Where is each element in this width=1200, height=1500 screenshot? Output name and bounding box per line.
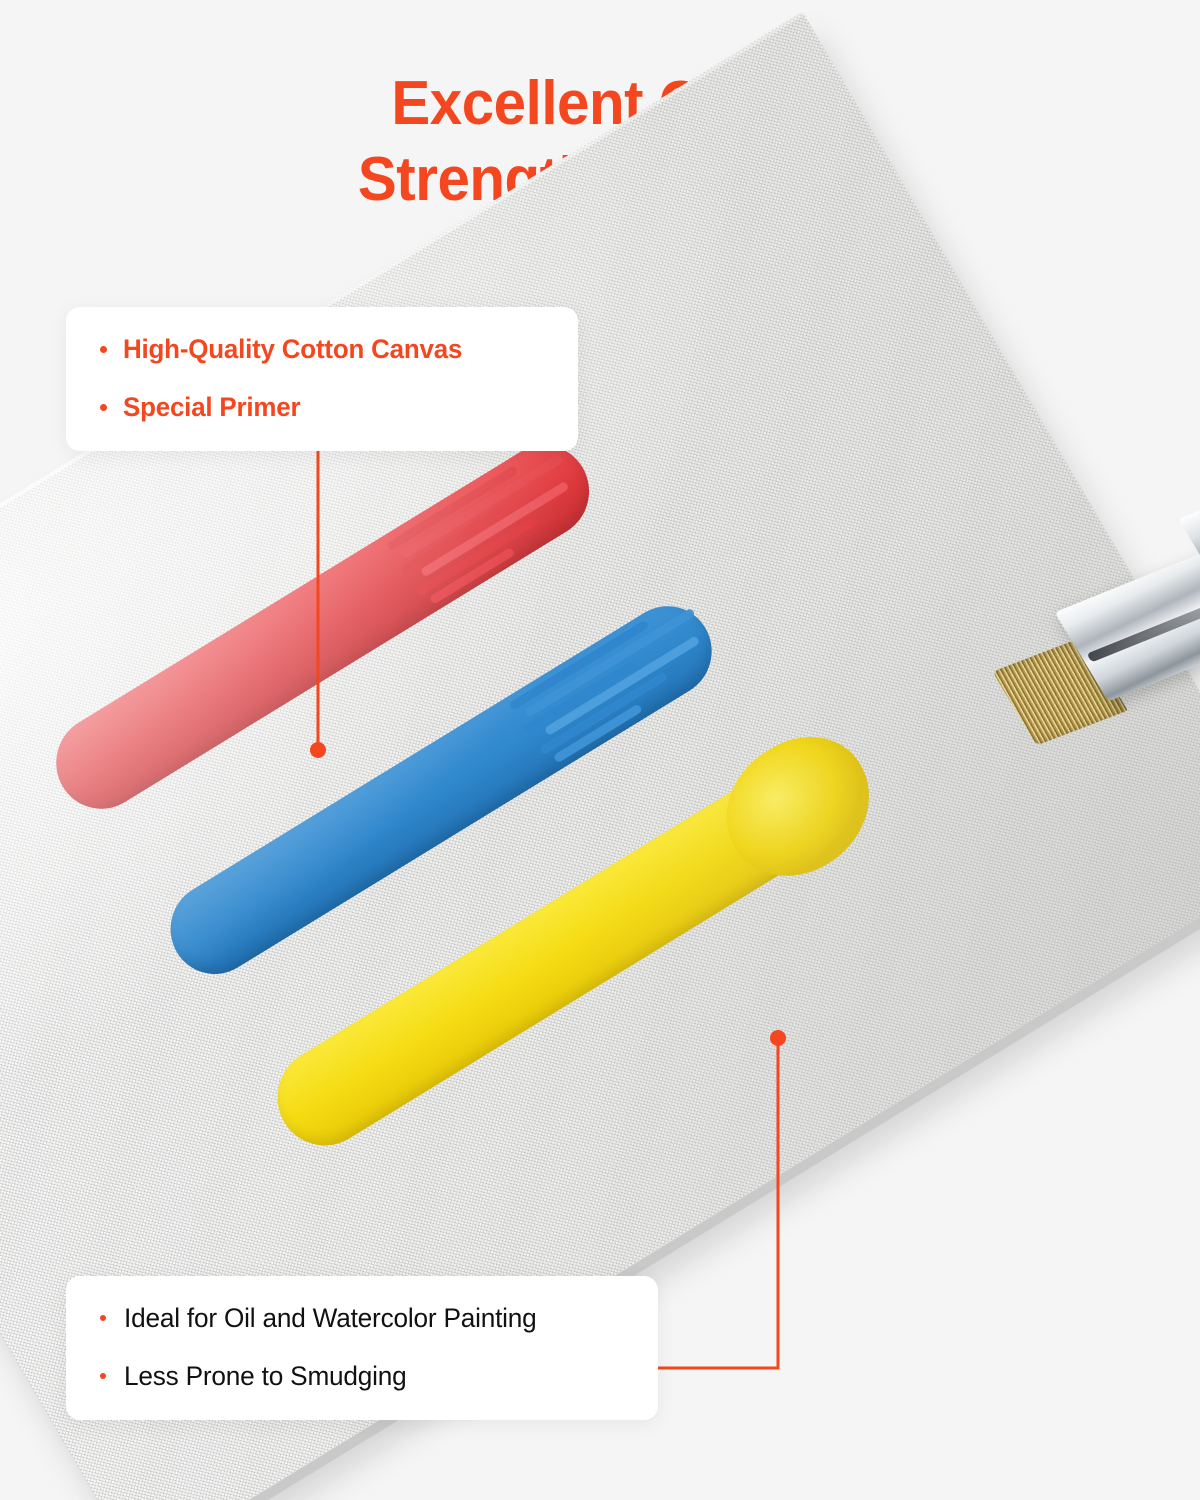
bullet-dot-icon bbox=[100, 346, 107, 353]
infographic-page: Excellent Color Strength and Feel bbox=[0, 0, 1200, 1500]
callout-top-list: High-Quality Cotton Canvas Special Prime… bbox=[100, 333, 548, 423]
callout-bottom-list: Ideal for Oil and Watercolor Painting Le… bbox=[100, 1302, 628, 1392]
callout-card-bottom: Ideal for Oil and Watercolor Painting Le… bbox=[66, 1276, 658, 1420]
callout-card-top: High-Quality Cotton Canvas Special Prime… bbox=[66, 307, 578, 451]
callout-bottom-item-label: Ideal for Oil and Watercolor Painting bbox=[124, 1302, 537, 1334]
bullet-dot-icon bbox=[100, 404, 107, 411]
list-item: High-Quality Cotton Canvas bbox=[100, 333, 548, 365]
list-item: Less Prone to Smudging bbox=[100, 1360, 628, 1392]
paint-stroke-red-drybrush bbox=[382, 427, 607, 616]
callout-bottom-item-label: Less Prone to Smudging bbox=[124, 1360, 407, 1392]
paint-stroke-yellow-blob bbox=[702, 712, 894, 901]
product-photo bbox=[0, 0, 1200, 1500]
paint-stroke-blue-drybrush bbox=[505, 588, 729, 775]
list-item: Special Primer bbox=[100, 391, 548, 423]
bullet-dot-icon bbox=[100, 1373, 106, 1379]
callout-top-item-label: High-Quality Cotton Canvas bbox=[123, 333, 462, 365]
bullet-dot-icon bbox=[100, 1315, 106, 1321]
callout-top-item-label: Special Primer bbox=[123, 391, 300, 423]
list-item: Ideal for Oil and Watercolor Painting bbox=[100, 1302, 628, 1334]
